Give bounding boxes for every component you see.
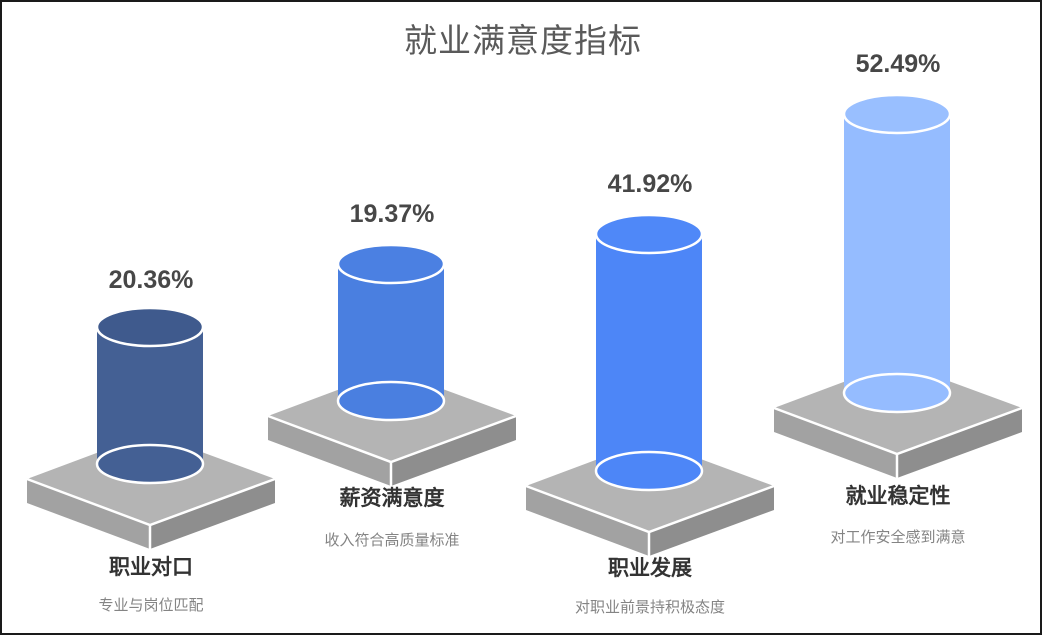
bar-group-1[interactable]: 20.36% 职业对口 专业与岗位匹配 xyxy=(26,2,276,635)
bar-value-label: 41.92% xyxy=(525,170,775,199)
cylinder xyxy=(338,245,444,420)
bar-value-label: 52.49% xyxy=(773,50,1023,79)
bar-category-label: 职业对口 xyxy=(26,551,276,581)
bar-category-label: 就业稳定性 xyxy=(773,480,1023,510)
bar-group-3[interactable]: 41.92% 职业发展 对职业前景持积极态度 xyxy=(525,2,775,635)
cylinder xyxy=(97,308,203,483)
cylinder xyxy=(596,215,702,490)
bar-category-label: 职业发展 xyxy=(525,552,775,582)
bar-subtitle-label: 专业与岗位匹配 xyxy=(26,594,276,615)
bar-category-label: 薪资满意度 xyxy=(267,482,517,512)
cylinder-on-platform xyxy=(773,84,1023,504)
cylinder-on-platform xyxy=(525,204,775,564)
bar-group-4[interactable]: 52.49% 就业稳定性 对工作安全感到满意 xyxy=(773,2,1023,635)
bar-group-2[interactable]: 19.37% 薪资满意度 收入符合高质量标准 xyxy=(267,2,517,635)
bar-subtitle-label: 对工作安全感到满意 xyxy=(773,526,1023,547)
bar-subtitle-label: 对职业前景持积极态度 xyxy=(525,596,775,617)
cylinder xyxy=(844,95,950,412)
bar-value-label: 20.36% xyxy=(26,266,276,295)
bar-value-label: 19.37% xyxy=(267,200,517,229)
chart-canvas: 就业满意度指标 20.36% 职业对口 专业与岗位匹配 19.37% xyxy=(0,0,1042,635)
bar-subtitle-label: 收入符合高质量标准 xyxy=(267,529,517,550)
